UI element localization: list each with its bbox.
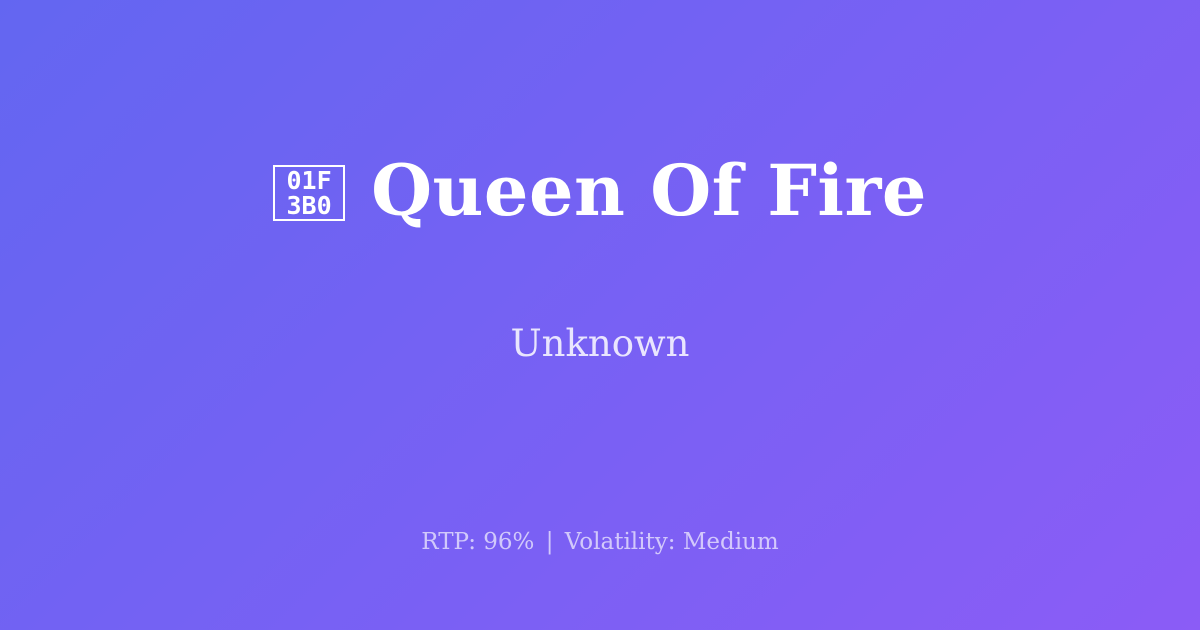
slot-machine-emoji-icon: 01F 3B0	[273, 165, 345, 221]
footer-separator: |	[542, 529, 558, 555]
title-row: 01F 3B0 Queen Of Fire	[273, 104, 927, 278]
codepoint-hex-high: 01F	[286, 168, 331, 193]
rtp-value: 96%	[483, 529, 534, 555]
stats-footer: RTP: 96% | Volatility: Medium	[0, 528, 1200, 556]
card-content: 01F 3B0 Queen Of Fire Unknown	[0, 0, 1200, 470]
volatility-value: Medium	[683, 529, 779, 555]
game-preview-card: 01F 3B0 Queen Of Fire Unknown RTP: 96% |…	[0, 0, 1200, 630]
volatility-label: Volatility:	[565, 529, 676, 555]
codepoint-hex-low: 3B0	[286, 193, 331, 218]
rtp-label: RTP:	[421, 529, 476, 555]
page-title: Queen Of Fire	[371, 151, 927, 231]
provider-subtitle: Unknown	[510, 322, 689, 366]
